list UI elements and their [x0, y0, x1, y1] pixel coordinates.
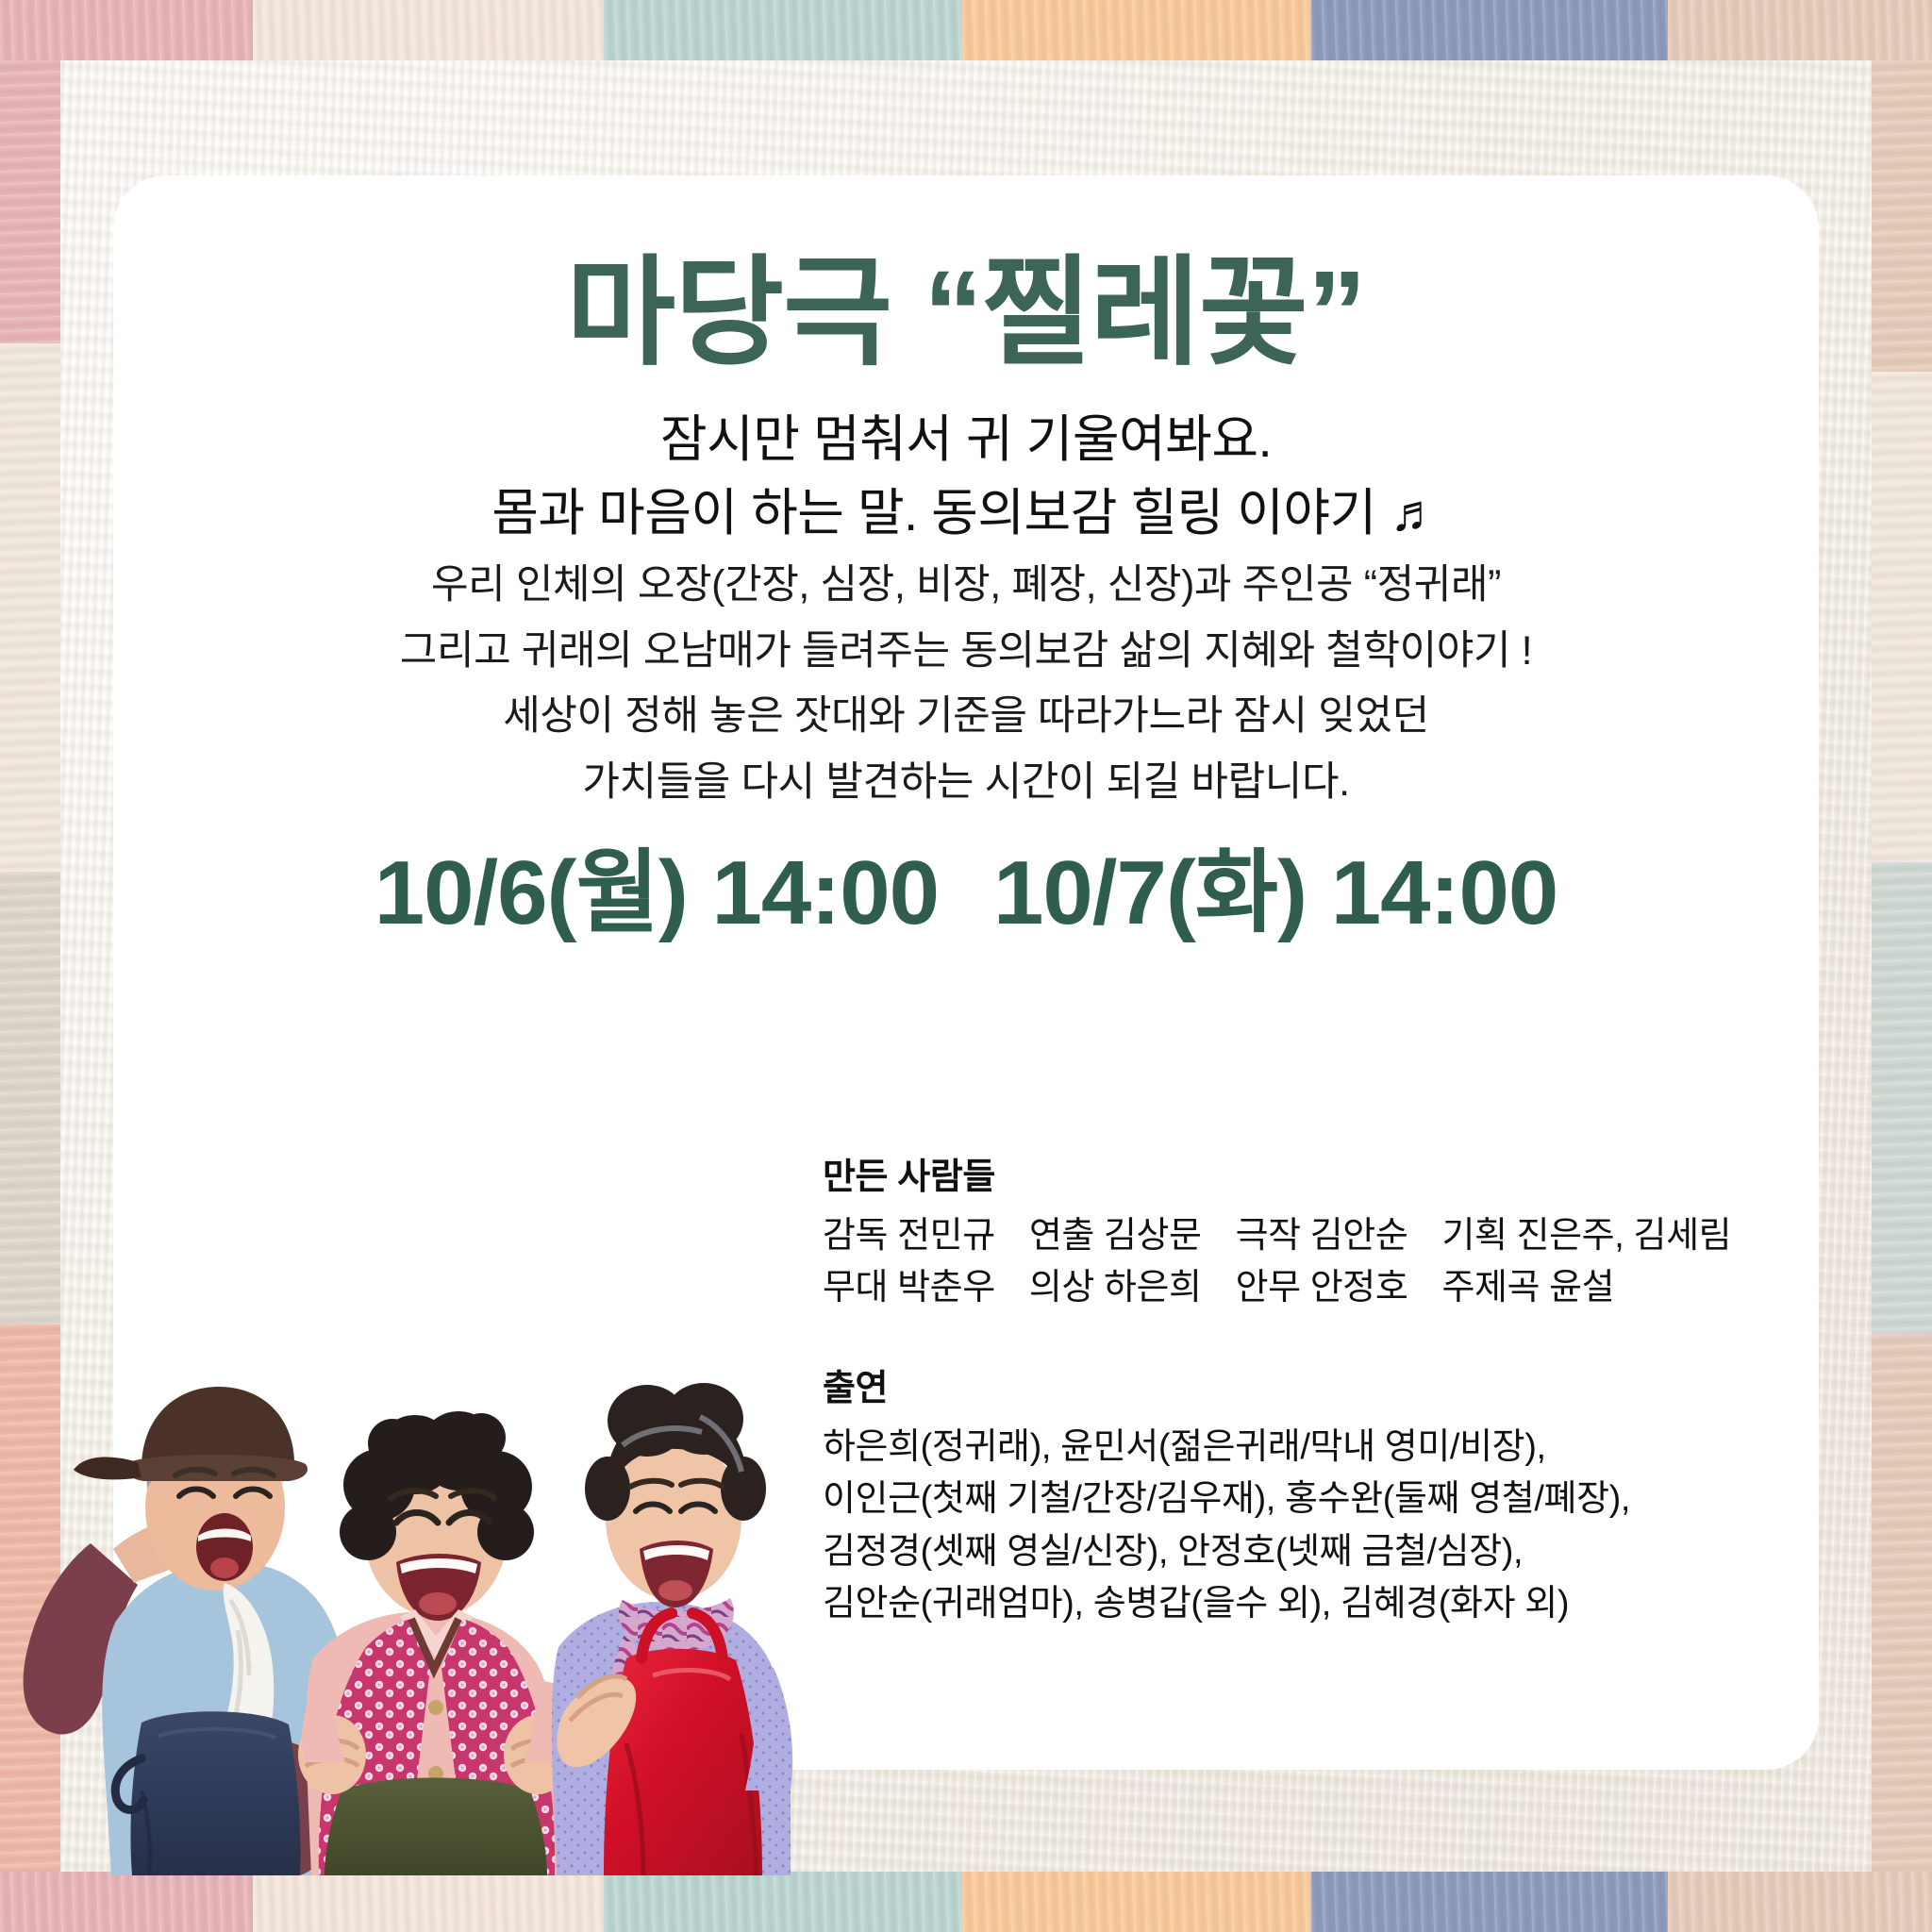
credit-item: 연출김상문 — [1029, 1210, 1202, 1262]
poster-canvas: 마당극 “찔레꽃” 잠시만 멈춰서 귀 기울여봐요. 몸과 마음이 하는 말. … — [0, 0, 1932, 1932]
border-bottom-swatch-3 — [962, 1872, 1311, 1932]
border-bottom-swatch-1 — [253, 1872, 604, 1932]
border-left-swatch-3 — [0, 1324, 60, 1872]
credit-role: 안무 — [1236, 1268, 1301, 1307]
cast-heading: 출연 — [823, 1358, 1747, 1410]
border-top-swatch-3 — [962, 0, 1311, 60]
border-bottom-swatch-5 — [1668, 1872, 1932, 1932]
border-strip-bottom — [0, 1872, 1932, 1932]
description-line-3: 세상이 정해 놓은 잣대와 기준을 따라가느라 잠시 잊었던 — [113, 684, 1819, 750]
poster-title: 마당극 “찔레꽃” — [113, 249, 1819, 377]
cast-line-1: 하은희(정귀래), 윤민서(젊은귀래/막내 영미/비장), — [823, 1422, 1747, 1474]
credit-role: 의상 — [1029, 1268, 1094, 1307]
border-top-swatch-0 — [0, 0, 253, 60]
credit-name: 윤설 — [1549, 1268, 1614, 1307]
credit-role: 무대 — [823, 1268, 888, 1307]
credit-name: 박춘우 — [897, 1268, 995, 1307]
credit-role: 기획 — [1441, 1216, 1507, 1256]
border-right-swatch-3 — [1872, 1334, 1932, 1872]
credit-item: 기획진은주, 김세림 — [1441, 1210, 1731, 1262]
cast-line-2: 이인근(첫째 기철/간장/김우재), 홍수완(둘째 영철/폐장), — [823, 1474, 1747, 1525]
border-top-swatch-1 — [253, 0, 604, 60]
credit-role: 극작 — [1236, 1216, 1301, 1256]
description-line-1: 우리 인체의 오장(간장, 심장, 비장, 폐장, 신장)과 주인공 “정귀래” — [113, 553, 1819, 619]
border-bottom-swatch-4 — [1311, 1872, 1668, 1932]
poster-description: 우리 인체의 오장(간장, 심장, 비장, 폐장, 신장)과 주인공 “정귀래”… — [113, 553, 1819, 816]
showtime-1: 10/6(월) 14:00 — [375, 842, 939, 943]
credits-section: 만든 사람들 감독전민규연출김상문극작김안순기획진은주, 김세림 무대박춘우의상… — [823, 1147, 1747, 1631]
credit-item: 주제곡윤설 — [1441, 1262, 1614, 1314]
border-left-swatch-2 — [0, 872, 60, 1324]
showtimes: 10/6(월) 14:0010/7(화) 14:00 — [113, 819, 1819, 950]
credit-item: 극작김안순 — [1236, 1210, 1408, 1262]
credit-name: 전민규 — [897, 1216, 995, 1256]
border-left-swatch-1 — [0, 343, 60, 872]
staff-heading: 만든 사람들 — [823, 1147, 1747, 1199]
border-strip-right — [1872, 60, 1932, 1872]
credit-item: 의상하은희 — [1029, 1262, 1202, 1314]
border-right-swatch-1 — [1872, 372, 1932, 862]
content-card: 마당극 “찔레꽃” 잠시만 멈춰서 귀 기울여봐요. 몸과 마음이 하는 말. … — [113, 175, 1819, 1770]
border-strip-left — [0, 60, 60, 1872]
credit-item: 안무안정호 — [1236, 1262, 1408, 1314]
border-top-swatch-2 — [604, 0, 962, 60]
credit-item: 무대박춘우 — [823, 1262, 995, 1314]
border-right-swatch-2 — [1872, 862, 1932, 1334]
subtitle-line-2: 몸과 마음이 하는 말. 동의보감 힐링 이야기 ♬ — [113, 477, 1819, 551]
credit-role: 감독 — [823, 1216, 888, 1256]
description-line-4: 가치들을 다시 발견하는 시간이 되길 바랍니다. — [113, 750, 1819, 816]
cast-line-3: 김정경(셋째 영실/신장), 안정호(넷째 금철/심장), — [823, 1526, 1747, 1578]
border-bottom-swatch-2 — [604, 1872, 962, 1932]
border-bottom-swatch-0 — [0, 1872, 253, 1932]
description-line-2: 그리고 귀래의 오남매가 들려주는 동의보감 삶의 지혜와 철학이야기 ! — [113, 619, 1819, 685]
credit-name: 진은주, 김세림 — [1517, 1216, 1732, 1256]
border-right-swatch-0 — [1872, 60, 1932, 372]
border-left-swatch-0 — [0, 60, 60, 343]
border-top-swatch-5 — [1668, 0, 1932, 60]
showtime-2: 10/7(화) 14:00 — [993, 842, 1557, 943]
staff-row-1: 감독전민규연출김상문극작김안순기획진은주, 김세림 — [823, 1210, 1747, 1262]
staff-row-2: 무대박춘우의상하은희안무안정호주제곡윤설 — [823, 1262, 1747, 1314]
border-strip-top — [0, 0, 1932, 60]
credit-name: 김상문 — [1104, 1216, 1202, 1256]
credit-name: 김안순 — [1310, 1216, 1408, 1256]
credit-role: 주제곡 — [1441, 1268, 1540, 1307]
credit-name: 안정호 — [1310, 1268, 1408, 1307]
credits-spacer — [823, 1315, 1747, 1358]
subtitle-line-1: 잠시만 멈춰서 귀 기울여봐요. — [113, 404, 1819, 477]
credit-role: 연출 — [1029, 1216, 1094, 1256]
cast-line-4: 김안순(귀래엄마), 송병갑(을수 외), 김혜경(화자 외) — [823, 1578, 1747, 1630]
border-top-swatch-4 — [1311, 0, 1668, 60]
poster-subtitle: 잠시만 멈춰서 귀 기울여봐요. 몸과 마음이 하는 말. 동의보감 힐링 이야… — [113, 404, 1819, 551]
credit-name: 하은희 — [1104, 1268, 1202, 1307]
credit-item: 감독전민규 — [823, 1210, 995, 1262]
